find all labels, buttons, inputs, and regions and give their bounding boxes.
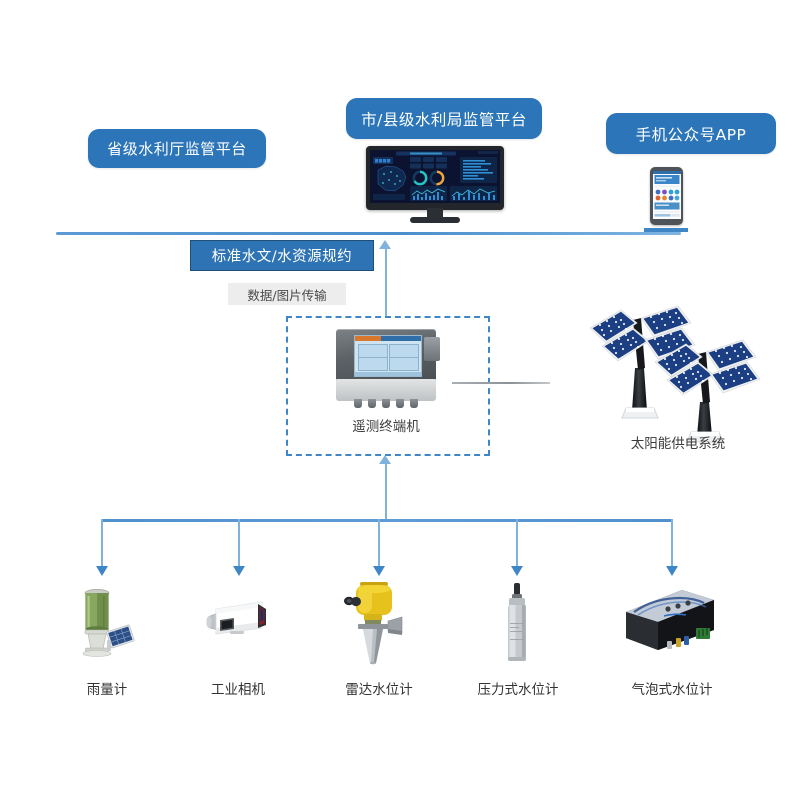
sensor-label-bubbler-level-meter: 气泡式水位计 xyxy=(617,678,727,698)
drop-arrow-radar-icon xyxy=(373,566,385,576)
rtu-antenna-icon xyxy=(452,382,550,384)
sensor-label-pressure-level-meter-text: 压力式水位计 xyxy=(478,682,559,698)
rtu-label: 遥测终端机 xyxy=(286,415,486,435)
network-backbone-line xyxy=(56,232,681,235)
sensor-label-radar-level-meter: 雷达水位计 xyxy=(324,678,434,698)
solar-power-label: 太阳能供电系统 xyxy=(583,432,773,452)
rtu-downlink-arrow-up-icon xyxy=(379,455,391,464)
data-transmission-label: 数据/图片传输 xyxy=(247,285,326,304)
platform-pill-city[interactable]: 市/县级水利局监管平台 xyxy=(346,98,542,139)
smartphone-body xyxy=(650,167,683,225)
drop-arrow-rain-gauge-icon xyxy=(96,566,108,576)
diagram-canvas: 省级水利厅监管平台 市/县级水利局监管平台 手机公众号APP xyxy=(0,0,800,800)
industrial-camera-icon xyxy=(200,598,280,658)
sensor-label-bubbler-level-meter-text: 气泡式水位计 xyxy=(632,682,713,698)
rtu-screen xyxy=(354,335,422,377)
app-screen-graphic xyxy=(653,171,681,219)
monitor-screen xyxy=(370,150,500,203)
rtu-downlink-line xyxy=(385,463,387,521)
drop-line-camera xyxy=(238,519,240,568)
pressure-level-meter-icon xyxy=(498,583,538,663)
rtu-label-text: 遥测终端机 xyxy=(352,419,420,435)
rtu-base xyxy=(336,379,436,401)
uplink-line xyxy=(385,248,387,318)
rain-gauge-graphic xyxy=(72,583,142,661)
monitor-stand-foot xyxy=(410,217,460,223)
rtu-screen-cell xyxy=(358,344,388,358)
rtu-screen-cell xyxy=(358,357,388,371)
rtu-cable-gland xyxy=(410,399,418,408)
solar-array-graphic xyxy=(588,296,768,446)
drop-arrow-camera-icon xyxy=(233,566,245,576)
platform-pill-province[interactable]: 省级水利厅监管平台 xyxy=(88,129,266,168)
solar-panel-icon xyxy=(588,296,768,446)
smartphone-icon xyxy=(650,167,683,225)
sensor-label-industrial-camera: 工业相机 xyxy=(183,678,293,698)
dashboard-graphic xyxy=(370,150,500,203)
solar-power-label-text: 太阳能供电系统 xyxy=(631,436,726,452)
monitor-icon xyxy=(366,146,504,226)
drop-line-bubbler xyxy=(671,519,673,568)
rtu-device-icon xyxy=(332,329,452,411)
radar-level-meter-graphic xyxy=(336,577,422,665)
protocol-standard-label: 标准水文/水资源规约 xyxy=(212,245,352,266)
sensor-label-rain-gauge: 雨量计 xyxy=(52,678,162,698)
rtu-screen-cell xyxy=(389,344,419,358)
bubbler-level-meter-graphic xyxy=(620,588,720,660)
protocol-standard-box: 标准水文/水资源规约 xyxy=(190,240,374,271)
industrial-camera-graphic xyxy=(200,598,280,658)
sensor-label-rain-gauge-text: 雨量计 xyxy=(87,682,128,698)
radar-level-meter-icon xyxy=(336,577,422,665)
drop-line-radar xyxy=(378,519,380,568)
sensor-label-radar-level-meter-text: 雷达水位计 xyxy=(345,682,413,698)
sensor-bus-line xyxy=(101,519,673,522)
rain-gauge-icon xyxy=(72,583,142,661)
sensor-label-pressure-level-meter: 压力式水位计 xyxy=(463,678,573,698)
rtu-screen-titlebar-blue xyxy=(381,336,421,341)
data-transmission-box: 数据/图片传输 xyxy=(228,283,346,305)
drop-arrow-bubbler-icon xyxy=(666,566,678,576)
monitor-bezel xyxy=(366,146,504,210)
rtu-cable-gland xyxy=(368,399,376,408)
smartphone-screen xyxy=(653,171,681,219)
rtu-cable-gland xyxy=(354,399,362,408)
bubbler-level-meter-icon xyxy=(620,588,720,660)
uplink-arrow-up-icon xyxy=(379,240,391,249)
sensor-label-industrial-camera-text: 工业相机 xyxy=(211,682,265,698)
platform-pill-province-label: 省级水利厅监管平台 xyxy=(107,138,247,159)
drop-arrow-pressure-icon xyxy=(511,566,523,576)
rtu-cable-gland xyxy=(382,399,390,408)
rtu-side-connector xyxy=(424,337,440,361)
platform-pill-app[interactable]: 手机公众号APP xyxy=(606,113,776,154)
drop-line-rain-gauge xyxy=(101,519,103,568)
rtu-cable-gland xyxy=(396,399,404,408)
rtu-screen-statusbar xyxy=(355,372,421,376)
rtu-screen-cell xyxy=(389,357,419,371)
pressure-level-meter-graphic xyxy=(498,583,538,663)
rtu-shell xyxy=(336,329,436,381)
drop-line-pressure xyxy=(516,519,518,568)
platform-pill-app-label: 手机公众号APP xyxy=(636,123,747,145)
platform-pill-city-label: 市/县级水利局监管平台 xyxy=(361,108,527,130)
